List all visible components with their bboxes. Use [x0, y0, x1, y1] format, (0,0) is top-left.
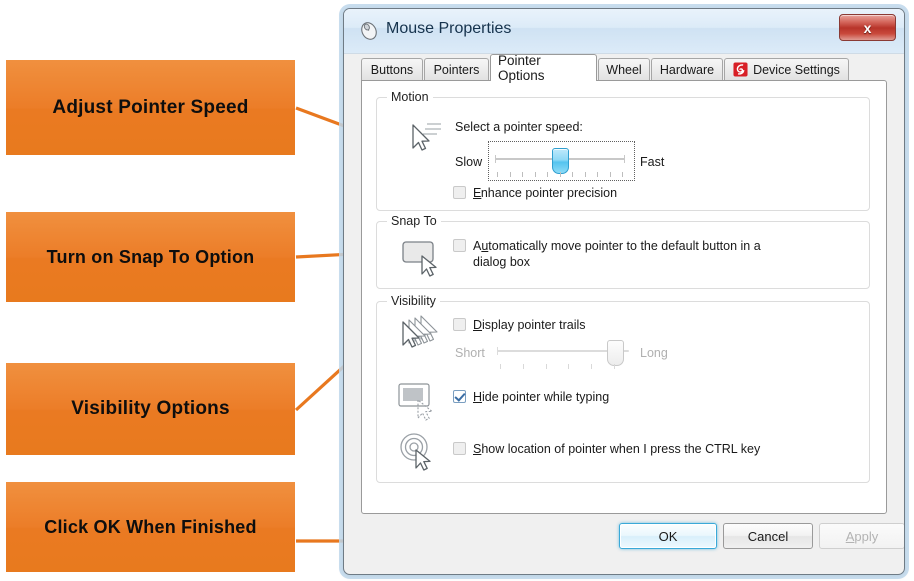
snap-to-text: tomatically move pointer to the default …	[473, 239, 761, 269]
callout-label: Visibility Options	[71, 398, 229, 420]
hide-pointer-typing-row[interactable]: Hide pointer while typing	[453, 390, 609, 404]
cancel-button[interactable]: Cancel	[723, 523, 813, 549]
callout-label: Turn on Snap To Option	[47, 247, 255, 268]
pointer-speed-pictogram	[395, 116, 447, 156]
show-location-text: how location of pointer when I press the…	[481, 442, 760, 456]
dialog-button-bar: OK Cancel Apply	[361, 518, 887, 558]
close-label: x	[864, 20, 872, 36]
slider-thumb[interactable]	[552, 148, 569, 174]
tab-strip: Buttons Pointers Pointer Options Wheel H…	[361, 54, 895, 81]
tab-label: Pointers	[434, 63, 480, 77]
tab-page-pointer-options: Motion Select a pointer speed: Slow	[361, 80, 887, 514]
hide-pointer-typing-text: ide pointer while typing	[482, 390, 609, 404]
trails-slider-thumb[interactable]	[607, 340, 624, 366]
show-location-label: Show location of pointer when I press th…	[473, 442, 760, 456]
cancel-label: Cancel	[748, 529, 788, 544]
speed-slow-text: Slow	[455, 155, 482, 169]
dialog-titlebar[interactable]: Mouse Properties x	[344, 9, 904, 54]
tab-device-settings[interactable]: Device Settings	[724, 58, 849, 80]
synaptics-icon	[733, 62, 748, 77]
tab-buttons[interactable]: Buttons	[361, 58, 423, 80]
pointer-trails-pictogram	[391, 312, 447, 356]
group-visibility-legend: Visibility	[387, 294, 440, 308]
show-location-checkbox[interactable]	[453, 442, 466, 455]
apply-label: Apply	[846, 529, 879, 544]
hide-pointer-typing-label: Hide pointer while typing	[473, 390, 609, 404]
trails-slider-ticks	[500, 364, 615, 369]
callout-visibility-options: Visibility Options	[6, 363, 295, 455]
pointer-trails-slider[interactable]	[497, 340, 629, 368]
speed-fast-label: Fast	[640, 155, 664, 169]
trails-short-label: Short	[455, 346, 485, 360]
snap-to-pictogram	[395, 236, 447, 278]
pointer-speed-text: Select a pointer speed:	[455, 120, 583, 134]
mouse-properties-dialog: Mouse Properties x Buttons Pointers Poin…	[343, 8, 905, 575]
apply-button: Apply	[819, 523, 905, 549]
mouse-icon	[358, 21, 380, 41]
pointer-speed-slider[interactable]	[495, 145, 625, 175]
tab-label: Pointer Options	[498, 53, 589, 83]
hide-pointer-typing-pictogram	[395, 380, 445, 422]
close-icon[interactable]: x	[839, 14, 896, 41]
tab-hardware[interactable]: Hardware	[651, 58, 723, 80]
callout-click-ok-when-finished: Click OK When Finished	[6, 482, 295, 572]
display-trails-checkbox[interactable]	[453, 318, 466, 331]
display-trails-label: Display pointer trails	[473, 318, 586, 332]
pointer-speed-label: Select a pointer speed:	[455, 120, 583, 134]
callout-label: Adjust Pointer Speed	[52, 97, 248, 119]
enhance-precision-row[interactable]: Enhance pointer precision	[453, 186, 617, 200]
tab-pointers[interactable]: Pointers	[424, 58, 489, 80]
callout-adjust-pointer-speed: Adjust Pointer Speed	[6, 60, 295, 155]
show-location-row[interactable]: Show location of pointer when I press th…	[453, 442, 760, 456]
tab-wheel[interactable]: Wheel	[598, 58, 650, 80]
group-snap-to: Snap To Automatically move pointer to th…	[376, 221, 870, 289]
ok-label: OK	[659, 529, 678, 544]
display-trails-row[interactable]: Display pointer trails	[453, 318, 586, 332]
display-trails-text: isplay pointer trails	[482, 318, 586, 332]
slider-ticks	[497, 172, 623, 177]
snap-to-label: Automatically move pointer to the defaul…	[473, 238, 783, 270]
apply-text: pply	[854, 529, 878, 544]
tab-label: Device Settings	[753, 63, 840, 77]
speed-slow-label: Slow	[455, 155, 482, 169]
speed-fast-text: Fast	[640, 155, 664, 169]
tab-pointer-options[interactable]: Pointer Options	[490, 54, 597, 81]
snap-to-checkbox[interactable]	[453, 239, 466, 252]
group-visibility: Visibility Display pointer trails	[376, 301, 870, 483]
tab-label: Hardware	[660, 63, 714, 77]
group-motion: Motion Select a pointer speed: Slow	[376, 97, 870, 211]
hide-pointer-typing-checkbox[interactable]	[453, 390, 466, 403]
tab-label: Wheel	[606, 63, 641, 77]
dialog-title: Mouse Properties	[386, 20, 511, 38]
trails-short-text: Short	[455, 346, 485, 360]
tab-label: Buttons	[371, 63, 413, 77]
callout-turn-on-snap-to-option: Turn on Snap To Option	[6, 212, 295, 302]
group-motion-legend: Motion	[387, 90, 433, 104]
enhance-precision-label: Enhance pointer precision	[473, 186, 617, 200]
trails-long-text: Long	[640, 346, 668, 360]
enhance-precision-checkbox[interactable]	[453, 186, 466, 199]
trails-long-label: Long	[640, 346, 668, 360]
show-location-pictogram	[395, 430, 445, 472]
ok-button[interactable]: OK	[619, 523, 717, 549]
callout-label: Click OK When Finished	[44, 517, 256, 538]
group-snap-to-legend: Snap To	[387, 214, 441, 228]
enhance-precision-text: nhance pointer precision	[481, 186, 617, 200]
snap-to-row[interactable]: Automatically move pointer to the defaul…	[453, 238, 783, 270]
